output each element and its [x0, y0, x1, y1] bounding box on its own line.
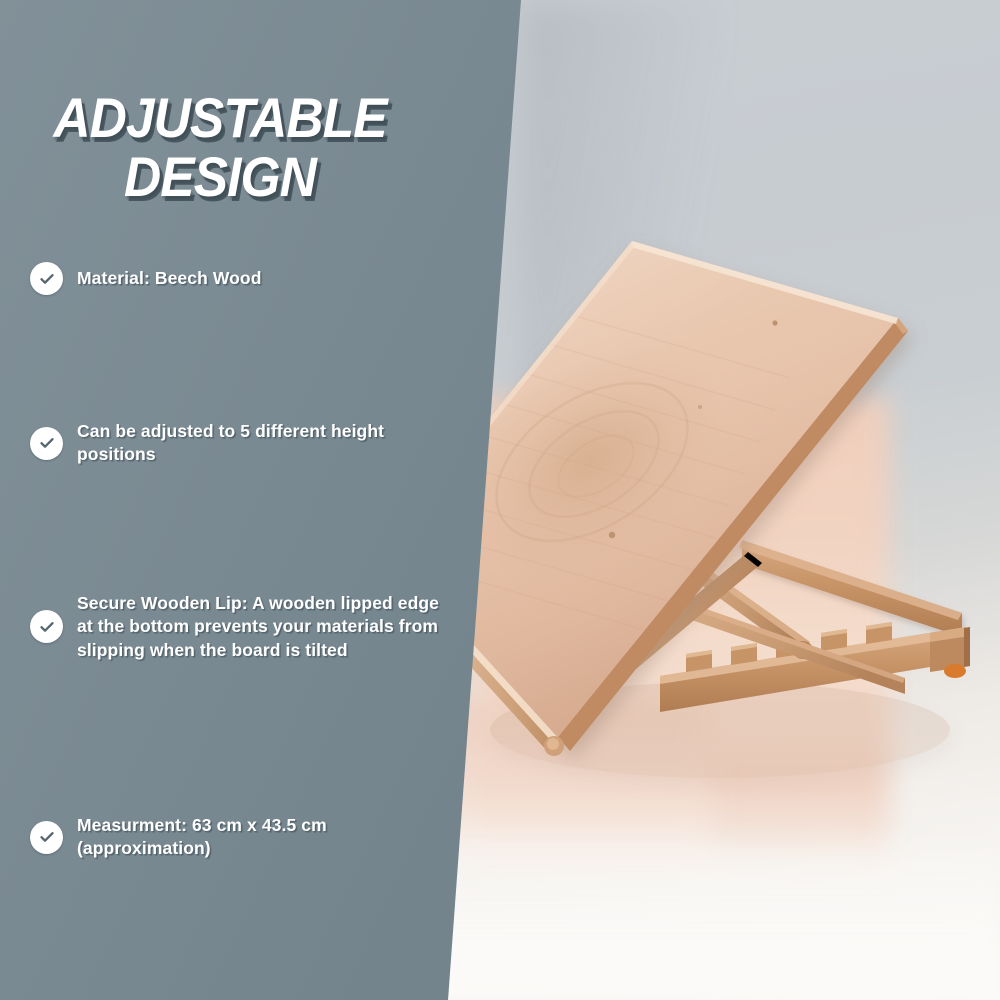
check-circle-icon [30, 427, 63, 460]
product-feature-graphic: ADJUSTABLE DESIGN Material: Beech Wood C… [0, 0, 1000, 1000]
headline-line-1: ADJUSTABLE [18, 90, 423, 145]
check-circle-icon [30, 821, 63, 854]
feature-item-height-positions: Can be adjusted to 5 different height po… [30, 420, 460, 467]
feature-item-material: Material: Beech Wood [30, 262, 460, 295]
feature-item-wooden-lip: Secure Wooden Lip: A wooden lipped edge … [30, 592, 460, 662]
check-circle-icon [30, 262, 63, 295]
feature-item-measurement: Measurment: 63 cm x 43.5 cm (approximati… [30, 814, 460, 861]
page-title: ADJUSTABLE DESIGN [18, 90, 423, 205]
feature-item-label: Can be adjusted to 5 different height po… [77, 420, 449, 467]
feature-item-label: Secure Wooden Lip: A wooden lipped edge … [77, 592, 449, 662]
rubber-foot [944, 664, 966, 678]
headline-line-2: DESIGN [18, 149, 423, 204]
feature-item-label: Material: Beech Wood [77, 267, 262, 290]
feature-item-label: Measurment: 63 cm x 43.5 cm (approximati… [77, 814, 449, 861]
check-circle-icon [30, 610, 63, 643]
